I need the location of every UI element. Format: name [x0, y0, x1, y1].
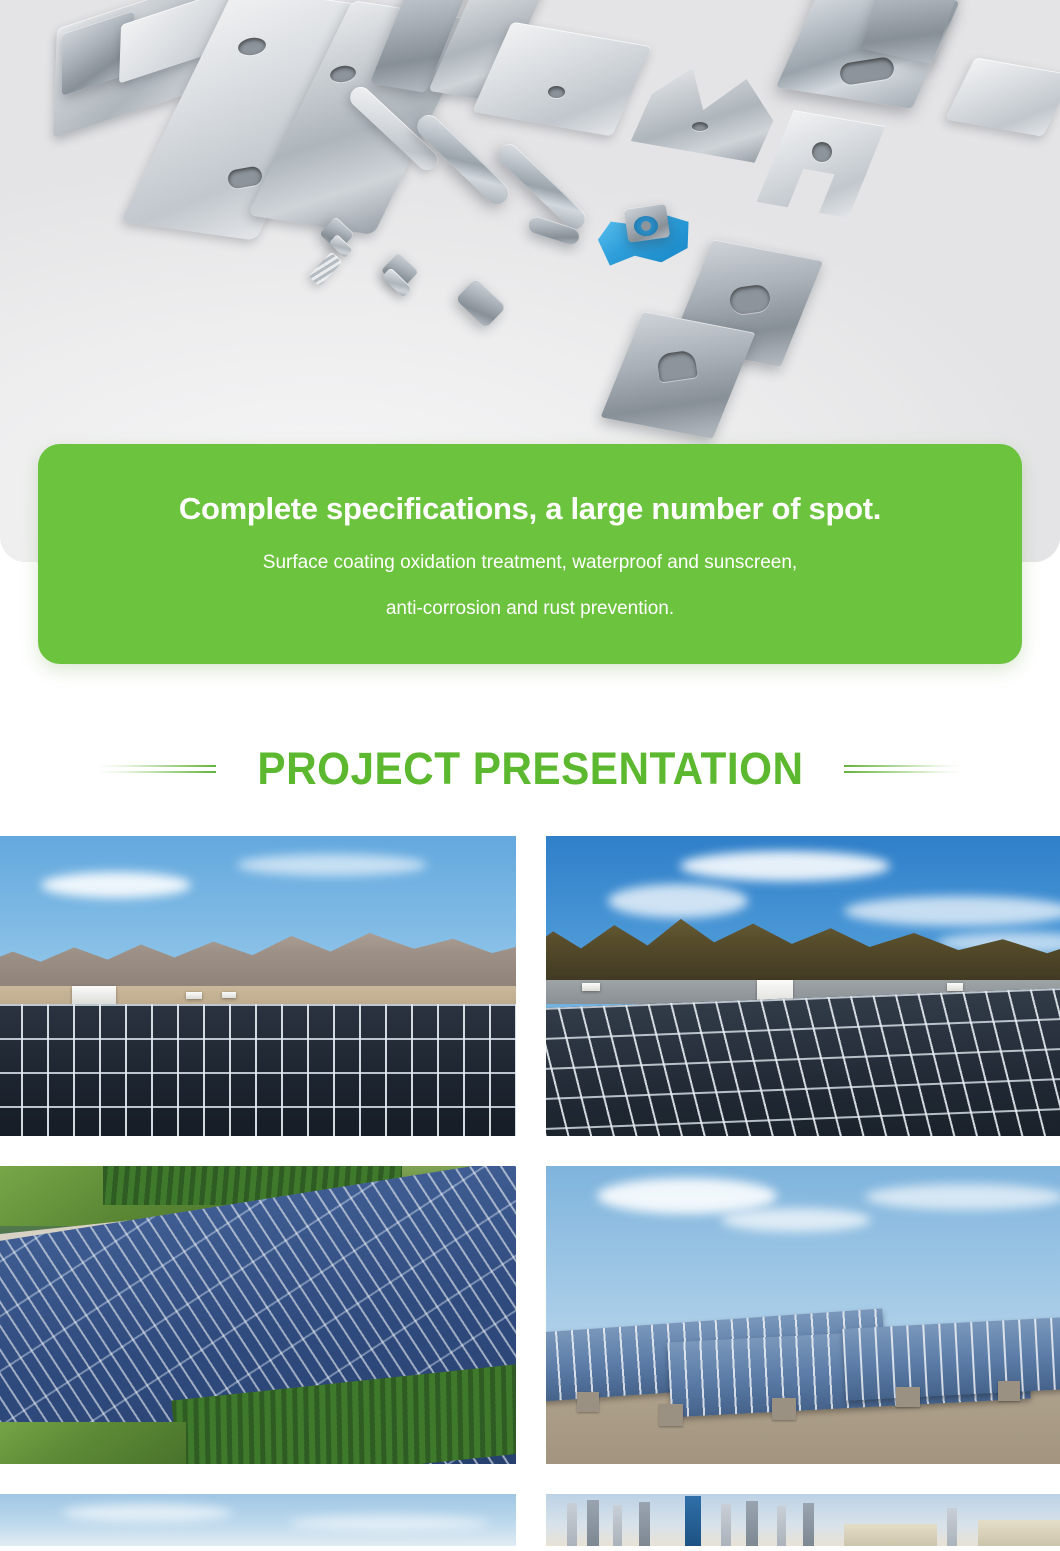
end-clamp-hole	[812, 142, 832, 162]
site-building	[222, 992, 236, 998]
photo-scene	[546, 836, 1060, 1136]
double-line-ornament-right-icon	[844, 760, 962, 778]
double-line-ornament-left-icon	[98, 760, 216, 778]
site-building	[947, 983, 963, 991]
spring-nut-thread-ring	[634, 216, 658, 236]
chimney-stack	[685, 1496, 701, 1546]
project-photo-tilted-rows[interactable]	[546, 1166, 1060, 1464]
banner-subtitle-line-1: Surface coating oxidation treatment, wat…	[263, 553, 797, 572]
spec-highlight-banner: Complete specifications, a large number …	[38, 444, 1022, 664]
w-clamp-hole	[692, 122, 708, 131]
mid-clamp-flat-hole	[548, 86, 565, 98]
section-title: PROJECT PRESENTATION	[257, 743, 803, 795]
project-presentation-heading: PROJECT PRESENTATION	[0, 726, 1060, 812]
gallery-row	[0, 1494, 1060, 1546]
project-photo-desert-array[interactable]	[0, 836, 516, 1136]
photo-scene	[546, 1494, 1060, 1546]
gallery-row	[0, 1166, 1060, 1464]
gallery-row	[0, 836, 1060, 1136]
site-building	[582, 983, 600, 991]
site-building	[72, 986, 116, 1004]
banner-title: Complete specifications, a large number …	[179, 491, 881, 527]
photo-scene	[0, 836, 516, 1136]
site-building	[186, 992, 202, 999]
project-photo-aerial-blue-array[interactable]	[0, 1166, 516, 1464]
photo-scene	[0, 1494, 516, 1546]
project-photo-sky-array-partial[interactable]	[0, 1494, 516, 1546]
photo-scene	[0, 1166, 516, 1464]
product-detail-page: Complete specifications, a large number …	[0, 0, 1060, 1551]
project-gallery	[0, 836, 1060, 1551]
photo-scene	[546, 1166, 1060, 1464]
banner-subtitle-line-2: anti-corrosion and rust prevention.	[386, 599, 674, 618]
project-photo-urban-plant-partial[interactable]	[546, 1494, 1060, 1546]
project-photo-mountain-array[interactable]	[546, 836, 1060, 1136]
